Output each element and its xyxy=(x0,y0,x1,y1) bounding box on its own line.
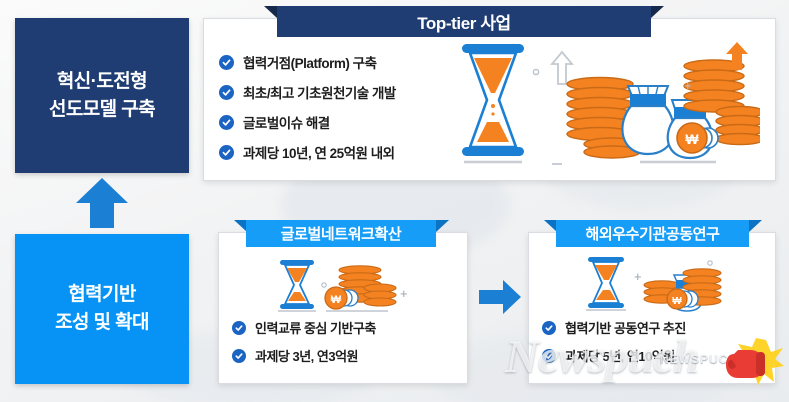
list-item: 인력교류 중심 기반구축 xyxy=(232,318,376,337)
svg-text:₩: ₩ xyxy=(685,131,699,147)
secondary-category-box: 협력기반 조성 및 확대 xyxy=(15,234,189,384)
check-icon xyxy=(219,145,234,160)
check-icon xyxy=(232,349,246,363)
list-item: 협력기반 공동연구 추진 xyxy=(542,318,686,337)
ribbon-tail-right xyxy=(749,220,762,232)
list-item-label: 협력거점(Platform) 구축 xyxy=(243,52,377,72)
primary-category-box: 혁신·도전형 선도모델 구축 xyxy=(15,18,189,173)
secondary-category-line1: 협력기반 xyxy=(55,281,149,309)
up-arrow-icon xyxy=(74,176,130,230)
check-icon xyxy=(219,55,234,70)
svg-text:₩: ₩ xyxy=(672,296,682,307)
list-item: 최초/최고 기초원천기술 개발 xyxy=(219,82,396,102)
hourglass-money-illustration: ₩ + xyxy=(440,38,760,170)
list-item-label: 인력교류 중심 기반구축 xyxy=(255,318,376,337)
hourglass-coins-illustration: + ₩ xyxy=(578,255,728,315)
ribbon-tail-right xyxy=(651,6,664,18)
list-item: 협력거점(Platform) 구축 xyxy=(219,52,396,72)
primary-category-line2: 선도모델 구축 xyxy=(49,96,155,124)
list-item-label: 협력기반 공동연구 추진 xyxy=(565,318,686,337)
check-icon xyxy=(232,321,246,335)
top-tier-title: Top-tier 사업 xyxy=(277,6,651,37)
boxing-glove-icon xyxy=(726,338,784,386)
list-item: 과제당 10년, 연 25억원 내외 xyxy=(219,142,396,162)
list-item: 과제당 3년, 연3억원 xyxy=(232,346,376,365)
check-icon xyxy=(542,349,556,363)
check-icon xyxy=(542,321,556,335)
svg-text:+: + xyxy=(400,286,408,301)
overseas-joint-research-bullet-list: 협력기반 공동연구 추진 과제당 5년, 연10억원 xyxy=(542,318,686,374)
list-item-label: 최초/최고 기초원천기술 개발 xyxy=(243,82,396,102)
check-icon xyxy=(219,115,234,130)
list-item: 과제당 5년, 연10억원 xyxy=(542,346,686,365)
ribbon-tail-left xyxy=(264,6,277,18)
hourglass-coins-illustration: ₩ + xyxy=(268,258,418,316)
secondary-category-line2: 조성 및 확대 xyxy=(55,309,149,337)
svg-text:₩: ₩ xyxy=(331,294,342,306)
check-icon xyxy=(219,85,234,100)
list-item-label: 과제당 3년, 연3억원 xyxy=(255,346,358,365)
svg-text:+: + xyxy=(684,78,692,93)
list-item: 글로벌이슈 해결 xyxy=(219,112,396,132)
overseas-joint-research-title: 해외우수기관공동연구 xyxy=(556,220,749,247)
right-arrow-icon xyxy=(477,278,523,316)
list-item-label: 과제당 5년, 연10억원 xyxy=(565,346,675,365)
primary-category-line1: 혁신·도전형 xyxy=(49,68,155,96)
global-network-title: 글로벌네트워크확산 xyxy=(246,220,436,247)
top-tier-bullet-list: 협력거점(Platform) 구축 최초/최고 기초원천기술 개발 글로벌이슈 … xyxy=(219,52,396,172)
global-network-bullet-list: 인력교류 중심 기반구축 과제당 3년, 연3억원 xyxy=(232,318,376,374)
list-item-label: 과제당 10년, 연 25억원 내외 xyxy=(243,142,395,162)
list-item-label: 글로벌이슈 해결 xyxy=(243,112,330,132)
svg-text:+: + xyxy=(634,269,642,284)
